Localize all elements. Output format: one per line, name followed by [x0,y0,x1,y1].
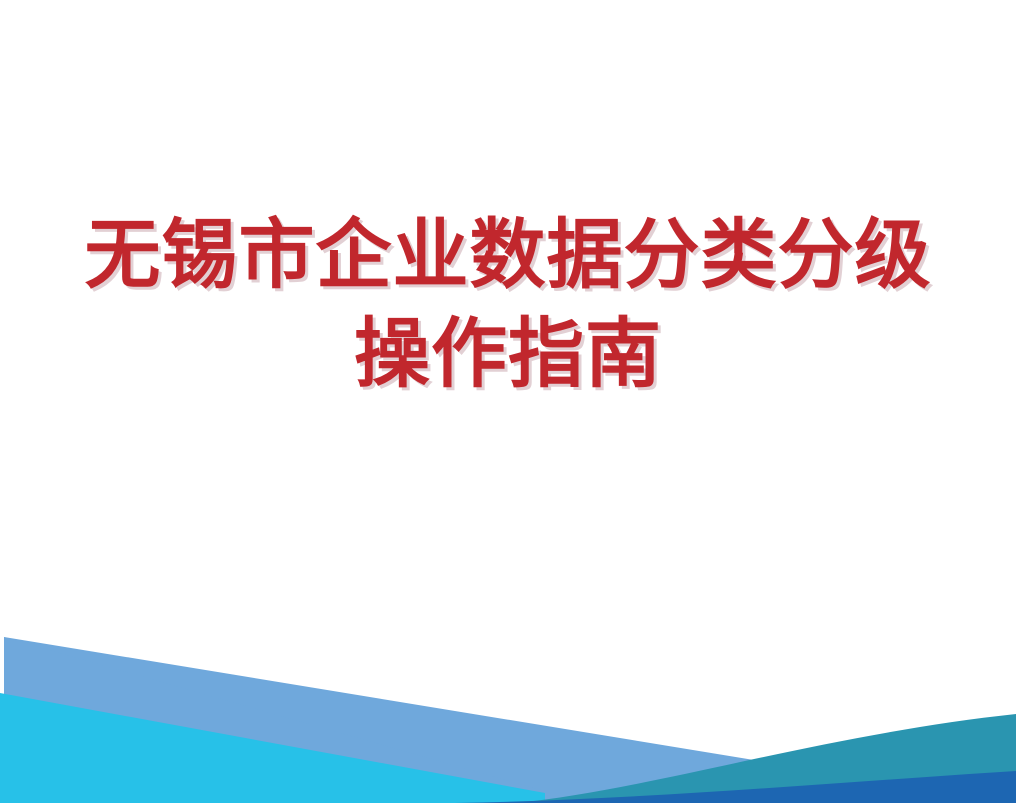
cyan-band [0,693,545,803]
page-title: 无锡市企业数据分类分级 操作指南 [0,205,1016,403]
light-blue-band-wedge [4,637,548,793]
dark-blue-wave [455,771,1016,803]
title-slide: 无锡市企业数据分类分级 操作指南 [0,0,1016,803]
title-line-1: 无锡市企业数据分类分级 [0,205,1016,304]
title-line-2: 操作指南 [0,304,1016,403]
teal-wave [516,714,1016,803]
light-blue-band [4,637,1016,803]
